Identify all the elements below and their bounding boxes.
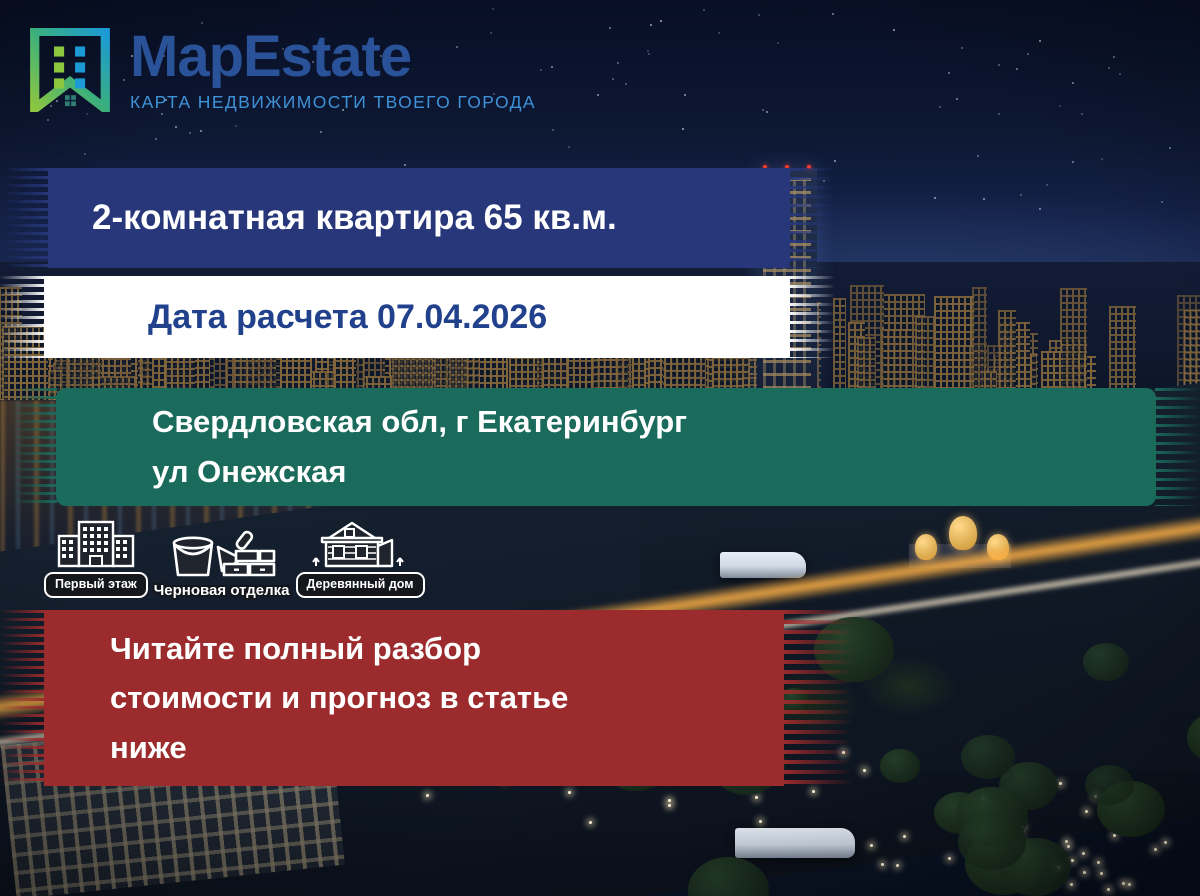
bookmark-building-icon bbox=[28, 28, 112, 112]
river-boat-2 bbox=[735, 828, 855, 858]
property-title-banner: 2-комнатная квартира 65 кв.м. bbox=[48, 168, 790, 268]
calculation-date-banner: Дата расчета 07.04.2026 bbox=[44, 276, 790, 358]
badge-wooden-house-label: Деревянный дом bbox=[296, 572, 425, 598]
property-feature-badges: Первый этаж bbox=[44, 518, 425, 598]
apartment-building-icon bbox=[49, 518, 143, 570]
property-title-text: 2-комнатная квартира 65 кв.м. bbox=[48, 198, 790, 238]
brand-name: MapEstate bbox=[130, 28, 536, 86]
badge-wooden-house: Деревянный дом bbox=[296, 518, 425, 598]
wooden-house-icon bbox=[312, 518, 408, 570]
badge-first-floor-label: Первый этаж bbox=[44, 572, 148, 598]
badge-rough-finish-label: Черновая отделка bbox=[154, 583, 290, 598]
call-to-action-banner: Читайте полный разбор стоимости и прогно… bbox=[44, 610, 784, 786]
address-banner: Свердловская обл, г Екатеринбург ул Онеж… bbox=[56, 388, 1156, 506]
brand-wordmark: MapEstate КАРТА НЕДВИЖИМОСТИ ТВОЕГО ГОРО… bbox=[130, 28, 536, 113]
badge-rough-finish: Черновая отделка bbox=[154, 529, 290, 598]
cta-line-2: стоимости и прогноз в статье bbox=[44, 673, 784, 723]
property-promo-poster: MapEstate КАРТА НЕДВИЖИМОСТИ ТВОЕГО ГОРО… bbox=[0, 0, 1200, 896]
cta-line-1: Читайте полный разбор bbox=[44, 624, 784, 674]
address-street: ул Онежская bbox=[56, 447, 1156, 497]
badge-first-floor: Первый этаж bbox=[44, 518, 148, 598]
paint-bucket-trowel-bricks-icon bbox=[166, 529, 278, 581]
brand-header: MapEstate КАРТА НЕДВИЖИМОСТИ ТВОЕГО ГОРО… bbox=[0, 0, 1200, 140]
address-region-city: Свердловская обл, г Екатеринбург bbox=[56, 397, 1156, 447]
cta-line-3: ниже bbox=[44, 723, 784, 773]
calculation-date-text: Дата расчета 07.04.2026 bbox=[44, 298, 790, 337]
river-boat bbox=[720, 552, 806, 578]
brand-tagline: КАРТА НЕДВИЖИМОСТИ ТВОЕГО ГОРОДА bbox=[130, 92, 536, 113]
